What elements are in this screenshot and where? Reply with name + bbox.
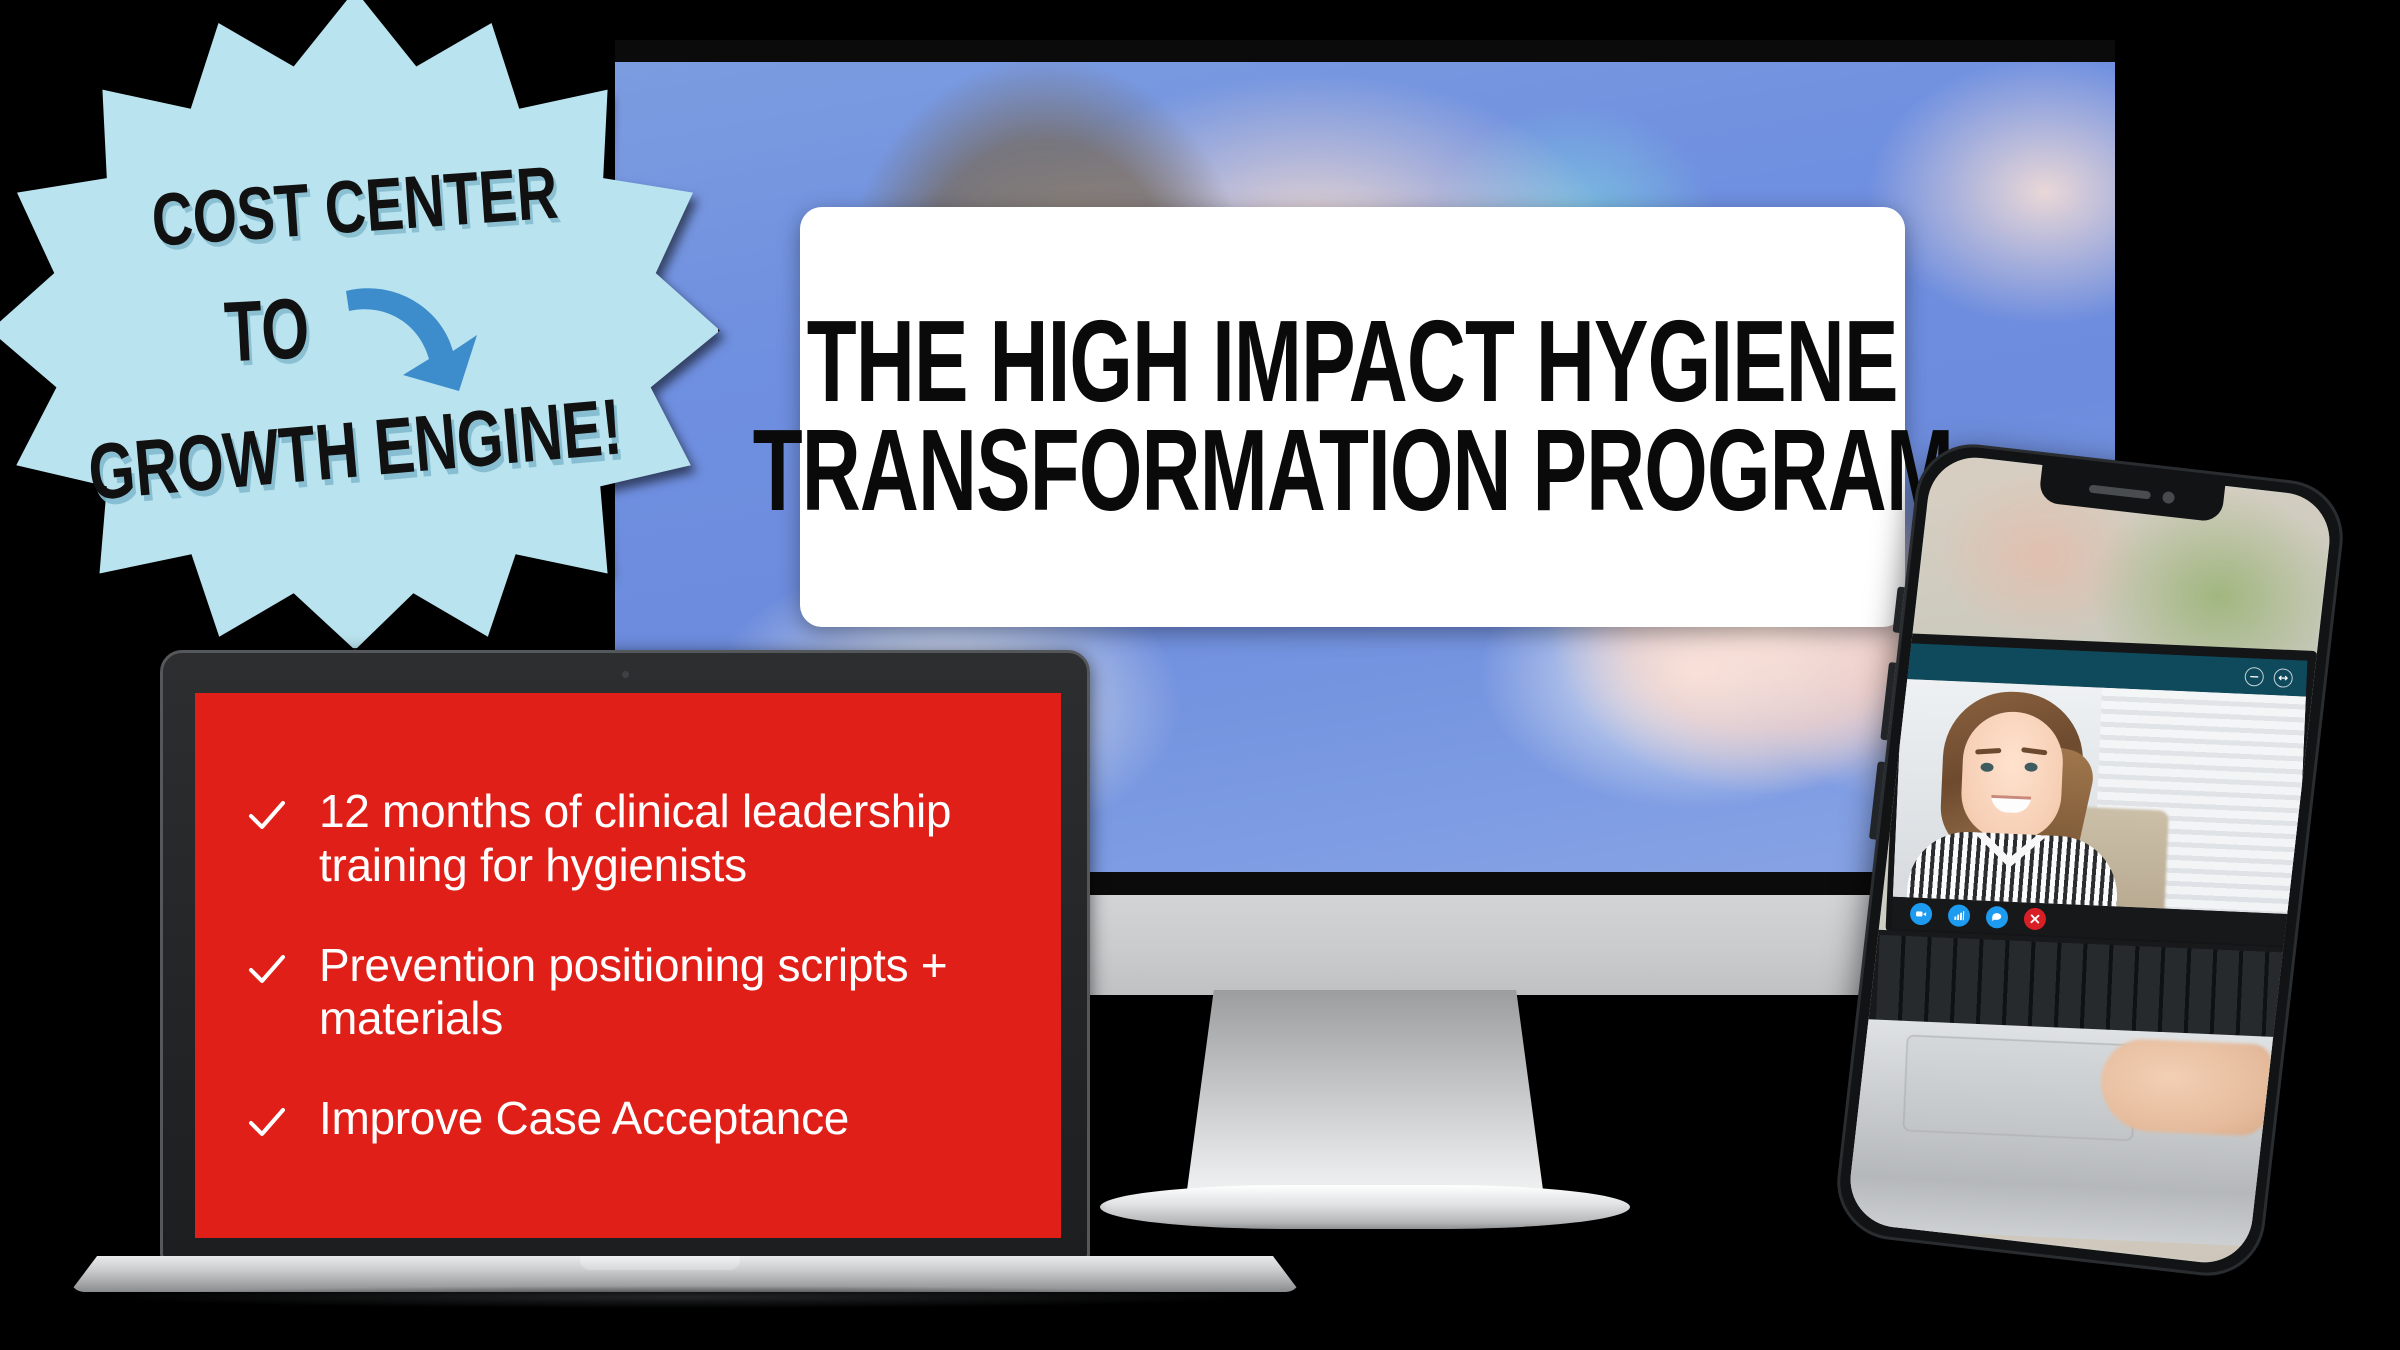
minimize-icon[interactable]	[2244, 666, 2264, 686]
laptop-webcam-icon	[622, 671, 629, 678]
chat-bubble-icon[interactable]	[1986, 906, 2009, 929]
laptop-screen-benefits-list: 12 months of clinical leadership trainin…	[195, 693, 1061, 1238]
person-face	[1959, 710, 2064, 842]
checkmark-icon	[245, 947, 289, 991]
starburst-badge: COST CENTER TO GROWTH ENGINE!	[0, 0, 720, 650]
starburst-badge-content: COST CENTER TO GROWTH ENGINE!	[0, 0, 720, 650]
title-line-2: TRANSFORMATION PROGRAM	[752, 415, 1952, 529]
checkmark-icon	[245, 1100, 289, 1144]
video-camera-icon[interactable]	[1910, 903, 1933, 926]
maximize-icon[interactable]	[2273, 668, 2293, 688]
list-item: Improve Case Acceptance	[245, 1092, 1025, 1146]
checkmark-icon	[245, 793, 289, 837]
badge-line-to: TO	[222, 279, 311, 381]
title-card: THE HIGH IMPACT HYGIENE TRANSFORMATION P…	[800, 207, 1905, 627]
front-camera-icon	[2162, 491, 2175, 504]
person-hand	[2099, 1037, 2273, 1136]
laptop-base-notch	[580, 1256, 740, 1270]
end-call-icon[interactable]	[2024, 907, 2047, 930]
laptop-shadow	[110, 1286, 1250, 1308]
signal-bars-icon[interactable]	[1948, 904, 1971, 927]
title-line-1: THE HIGH IMPACT HYGIENE	[807, 306, 1898, 420]
promo-graphic-stage: THE HIGH IMPACT HYGIENE TRANSFORMATION P…	[0, 0, 2400, 1350]
badge-middle-row: TO	[219, 267, 491, 393]
list-item: 12 months of clinical leadership trainin…	[245, 785, 1025, 893]
badge-line-growth-engine: GROWTH ENGINE!	[85, 380, 625, 517]
earpiece-speaker-icon	[2089, 485, 2152, 500]
laptop-device: 12 months of clinical leadership trainin…	[70, 650, 1300, 1330]
list-item-label: 12 months of clinical leadership trainin…	[319, 785, 959, 893]
smartphone-device	[1831, 438, 2349, 1282]
curved-arrow-down-right-icon	[341, 273, 491, 393]
list-item-label: Prevention positioning scripts + materia…	[319, 939, 959, 1047]
list-item-label: Improve Case Acceptance	[319, 1092, 849, 1146]
video-call-window	[1891, 643, 2307, 946]
laptop-lid: 12 months of clinical leadership trainin…	[160, 650, 1090, 1260]
badge-line-cost-center: COST CENTER	[149, 150, 560, 263]
phone-photo-laptop-deck	[1845, 1019, 2287, 1248]
video-call-feed	[1893, 679, 2306, 914]
list-item: Prevention positioning scripts + materia…	[245, 939, 1025, 1047]
